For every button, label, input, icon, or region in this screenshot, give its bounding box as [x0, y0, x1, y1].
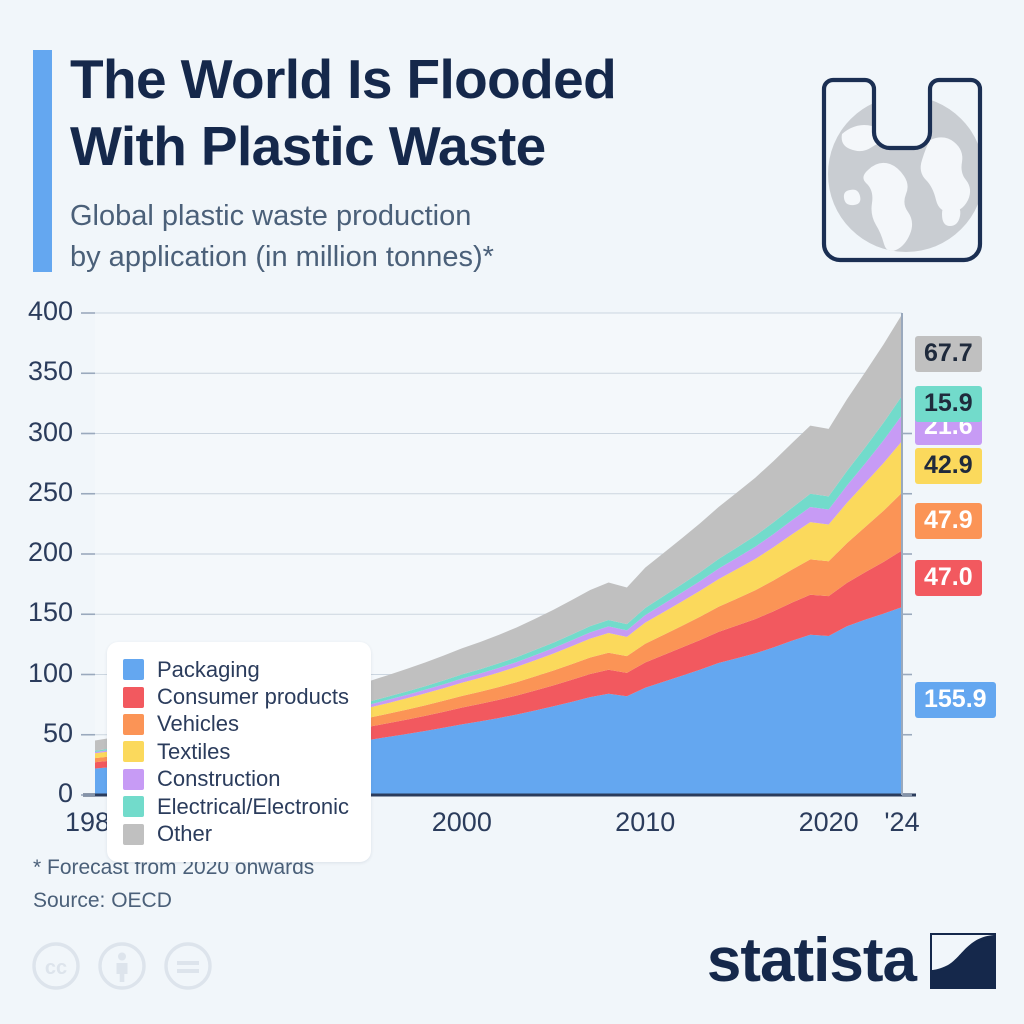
legend-item-label: Consumer products	[157, 684, 349, 710]
statista-mark-icon	[930, 933, 996, 989]
legend-item-label: Packaging	[157, 657, 260, 683]
cc-nd-icon	[162, 940, 214, 992]
y-axis-tick-label: 200	[3, 537, 73, 568]
legend-item-textiles[interactable]: Textiles	[123, 738, 349, 765]
statista-wordmark: statista	[707, 930, 916, 992]
value-label-consumer-products: 47.0	[915, 560, 982, 596]
legend-swatch-icon	[123, 796, 144, 817]
y-axis-tick-label: 350	[3, 356, 73, 387]
creative-commons-badges: cc	[30, 940, 214, 992]
legend-swatch-icon	[123, 687, 144, 708]
y-axis-tick-label: 0	[3, 778, 73, 809]
legend-item-label: Electrical/Electronic	[157, 794, 349, 820]
title-line-1: The World Is Flooded	[70, 46, 730, 113]
plastic-bag-with-globe-icon	[802, 62, 1002, 272]
legend-swatch-icon	[123, 659, 144, 680]
legend-item-label: Other	[157, 821, 212, 847]
legend-item-label: Construction	[157, 766, 281, 792]
subtitle-line-2: by application (in million tonnes)*	[70, 237, 730, 278]
footnote-block: * Forecast from 2020 onwards Source: OEC…	[33, 852, 314, 917]
legend-item-label: Textiles	[157, 739, 230, 765]
legend-item-label: Vehicles	[157, 711, 239, 737]
x-axis-tick-label: 2010	[590, 807, 700, 838]
legend-swatch-icon	[123, 824, 144, 845]
x-axis-tick-label: '24	[847, 807, 957, 838]
page-title: The World Is Flooded With Plastic Waste	[70, 46, 730, 180]
y-axis-tick-label: 150	[3, 597, 73, 628]
statista-logo: statista	[707, 930, 996, 992]
cc-icon: cc	[30, 940, 82, 992]
stacked-area-chart: 0501001502002503003504001980199020002010…	[0, 290, 1024, 850]
legend-item-other[interactable]: Other	[123, 820, 349, 847]
header: The World Is Flooded With Plastic Waste …	[0, 0, 1024, 290]
y-axis-tick-label: 100	[3, 658, 73, 689]
source-note: Source: OECD	[33, 885, 314, 918]
legend-swatch-icon	[123, 714, 144, 735]
title-line-2: With Plastic Waste	[70, 113, 730, 180]
svg-text:cc: cc	[45, 957, 67, 979]
chart-legend: PackagingConsumer productsVehiclesTextil…	[107, 642, 371, 862]
legend-item-vehicles[interactable]: Vehicles	[123, 711, 349, 738]
accent-bar	[33, 50, 52, 272]
y-axis-tick-label: 50	[3, 718, 73, 749]
x-axis-tick-label: 2000	[407, 807, 517, 838]
value-label-packaging: 155.9	[915, 682, 996, 718]
y-axis-tick-label: 400	[3, 296, 73, 327]
legend-item-consumer-products[interactable]: Consumer products	[123, 683, 349, 710]
value-label-other: 67.7	[915, 336, 982, 372]
infographic-page: The World Is Flooded With Plastic Waste …	[0, 0, 1024, 1024]
legend-swatch-icon	[123, 741, 144, 762]
legend-item-construction[interactable]: Construction	[123, 766, 349, 793]
y-axis-tick-label: 250	[3, 477, 73, 508]
legend-item-electrical-electronic[interactable]: Electrical/Electronic	[123, 793, 349, 820]
page-subtitle: Global plastic waste production by appli…	[70, 196, 730, 278]
legend-swatch-icon	[123, 769, 144, 790]
y-axis-tick-label: 300	[3, 417, 73, 448]
subtitle-line-1: Global plastic waste production	[70, 196, 730, 237]
legend-item-packaging[interactable]: Packaging	[123, 656, 349, 683]
value-label-textiles: 42.9	[915, 448, 982, 484]
value-label-electrical-electronic: 15.9	[915, 386, 982, 422]
cc-by-icon	[96, 940, 148, 992]
globe-illustration	[828, 96, 984, 252]
value-label-vehicles: 47.9	[915, 503, 982, 539]
